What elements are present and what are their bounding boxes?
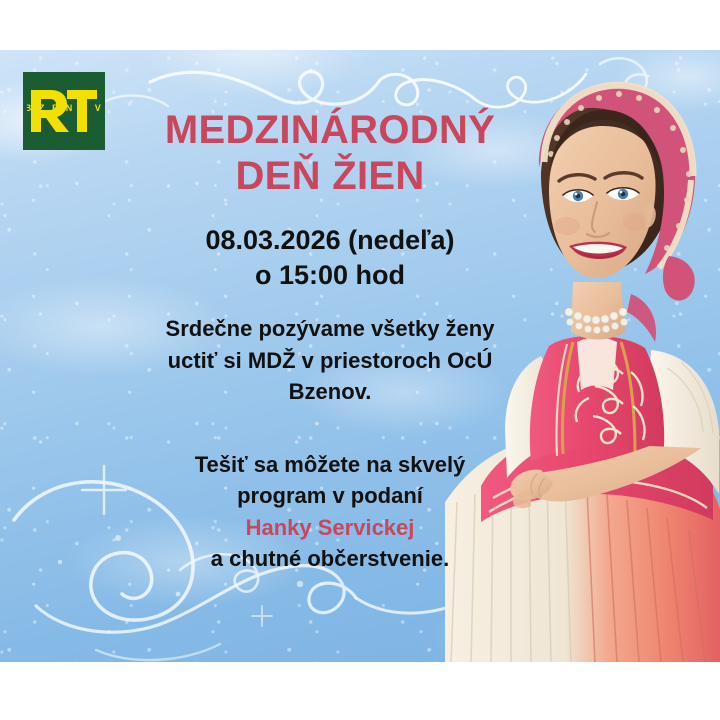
poster-canvas: B Z E N O V [0, 50, 720, 662]
event-date: 08.03.2026 (nedeľa) [120, 223, 540, 258]
program-line2: program v podaní [120, 480, 540, 511]
invitation-line3: Bzenov. [120, 376, 540, 407]
logo-subtext: B Z E N O V [27, 103, 101, 113]
bottom-white-band [0, 662, 720, 720]
program-line1: Tešiť sa môžete na skvelý [120, 449, 540, 480]
poster-title-line1: MEDZINÁRODNÝ [120, 108, 540, 154]
top-white-band [0, 0, 720, 50]
rt-bzenov-logo: B Z E N O V [23, 72, 105, 150]
invitation-line1: Srdečne pozývame všetky ženy [120, 313, 540, 344]
poster-title-line2: DEŇ ŽIEN [120, 154, 540, 200]
poster-root: B Z E N O V [0, 0, 720, 720]
invitation-line2: uctiť si MDŽ v priestoroch OcÚ [120, 345, 540, 376]
program-line4: a chutné občerstvenie. [120, 543, 540, 574]
program-paragraph: Tešiť sa môžete na skvelý program v poda… [120, 449, 540, 574]
invitation-paragraph: Srdečne pozývame všetky ženy uctiť si MD… [120, 313, 540, 407]
performer-name: Hanky Servickej [120, 512, 540, 543]
poster-text-column: MEDZINÁRODNÝ DEŇ ŽIEN 08.03.2026 (nedeľa… [120, 50, 540, 574]
event-time: o 15:00 hod [120, 258, 540, 293]
